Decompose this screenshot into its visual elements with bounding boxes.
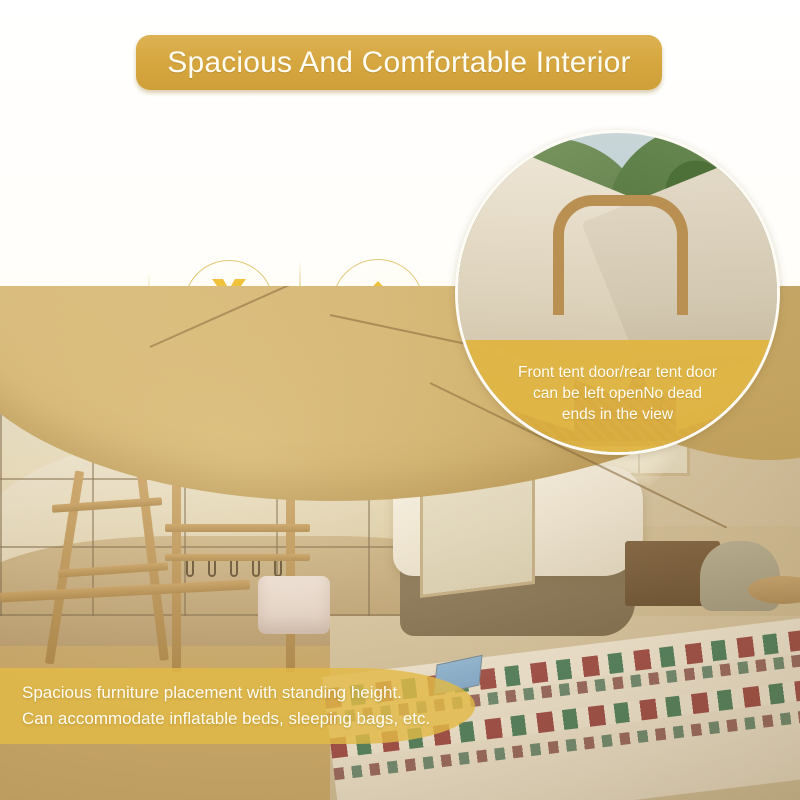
photo-hook-5 (274, 561, 282, 577)
bottom-caption-line-1: Spacious furniture placement with standi… (22, 683, 402, 703)
inset-door-frame (553, 195, 688, 315)
page-title: Spacious And Comfortable Interior (167, 46, 631, 80)
inset-caption-line-2: can be left openNo dead (533, 385, 702, 403)
bottom-caption-line-2: Can accommodate inflatable beds, sleepin… (22, 709, 430, 729)
photo-hook-4 (252, 561, 260, 577)
feature-highlights: High Volume Good Quality Higher And Brig… (0, 120, 470, 310)
page-title-banner: Spacious And Comfortable Interior (136, 35, 662, 90)
photo-hook-1 (186, 561, 194, 577)
inset-circle-photo: Front tent door/rear tent door can be le… (455, 130, 780, 455)
photo-hook-rail (165, 554, 310, 561)
photo-cooler-box (258, 576, 330, 634)
photo-shelf-post-left (172, 472, 181, 672)
inset-caption-band: Front tent door/rear tent door can be le… (458, 340, 777, 452)
photo-hook-2 (208, 561, 216, 577)
product-feature-page: Spacious And Comfortable Interior High V… (0, 0, 800, 800)
inset-caption-line-3: ends in the view (562, 406, 673, 424)
bottom-caption-banner: Spacious furniture placement with standi… (0, 668, 475, 744)
inset-caption-line-1: Front tent door/rear tent door (518, 364, 717, 382)
photo-hook-3 (230, 561, 238, 577)
photo-shelf-post-right (286, 472, 295, 672)
photo-shelf-mid (165, 524, 310, 532)
